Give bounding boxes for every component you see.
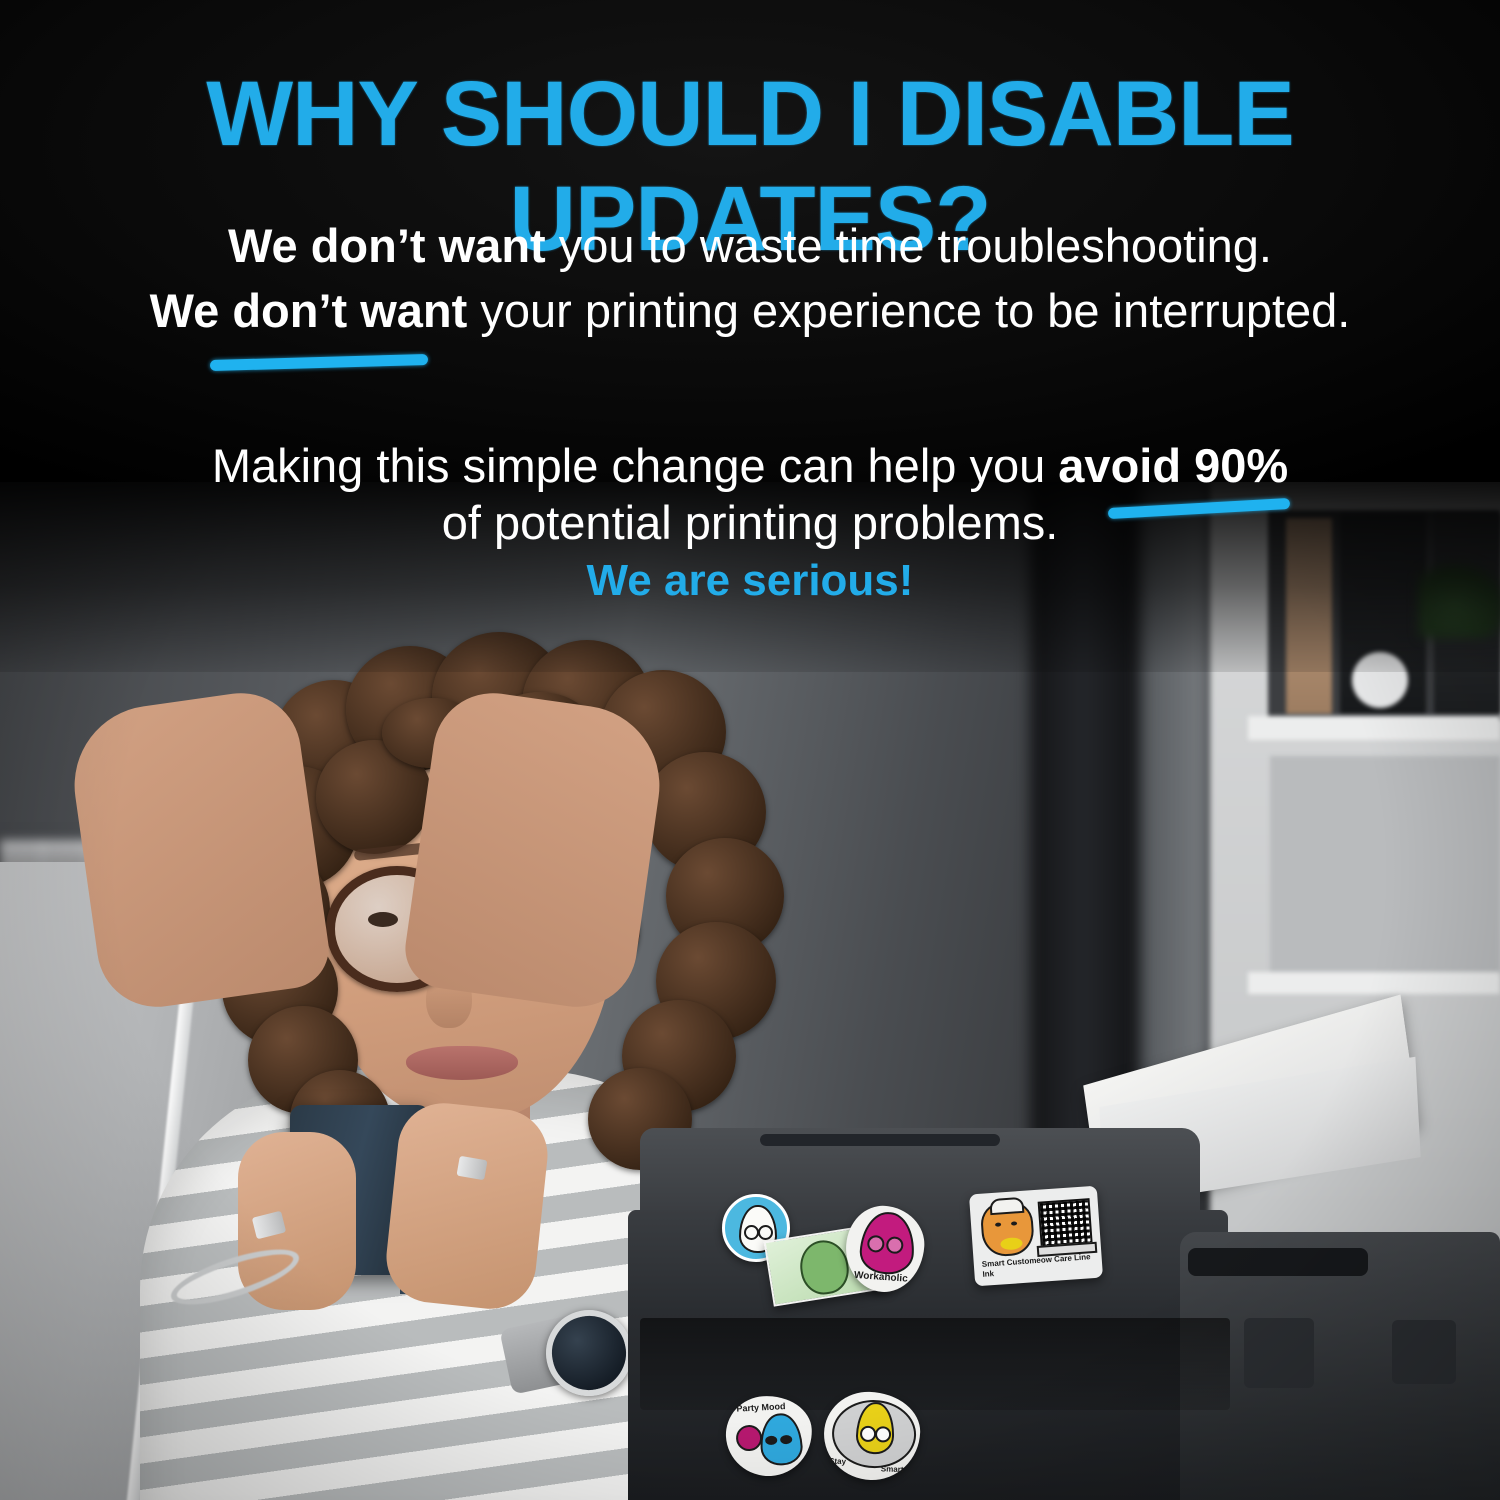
mouth [406, 1046, 518, 1080]
right-forearm [400, 685, 670, 1014]
body-line-1: We don’t want you to waste time troubles… [0, 218, 1500, 273]
printer-lid-handle [760, 1134, 1000, 1146]
printer-tab-left [1244, 1318, 1314, 1388]
hand-right [382, 1099, 552, 1314]
body-line-5-emphasis: We are serious! [0, 556, 1500, 606]
body-line-2: We don’t want your printing experience t… [0, 283, 1500, 338]
body-line-3-rest: Making this simple change can help you [212, 439, 1058, 492]
body-line-1-bold: We don’t want [228, 219, 546, 272]
sticker-workaholic-label: Workaholic [854, 1270, 908, 1285]
shelf-cubby-bottom [1270, 756, 1500, 976]
printer-paper-tray-shadow [640, 1318, 1230, 1410]
body-line-3: Making this simple change can help you a… [0, 438, 1500, 493]
shelf-board-lower [1248, 972, 1500, 994]
sticker-party-mood-label: Party Mood [736, 1401, 785, 1414]
sticker-care-line-sublabel: Ink [982, 1269, 994, 1279]
left-forearm [64, 685, 334, 1014]
body-line-2-rest: your printing experience to be interrupt… [467, 284, 1350, 337]
printer-tab-right [1392, 1320, 1456, 1384]
body-line-2-bold: We don’t want [150, 284, 468, 337]
promotional-banner: 100 Workaholic Smart Customeow Care Line… [0, 0, 1500, 1500]
sticker-customeow-care-line: Smart Customeow Care Line Ink [969, 1186, 1103, 1287]
body-line-3-bold: avoid 90% [1058, 439, 1288, 492]
sticker-stay-smart-label: Stay [829, 1457, 846, 1467]
printer-output-slot [1188, 1248, 1368, 1276]
sticker-stay-smart-label2: Smart [881, 1464, 904, 1474]
body-line-1-rest: you to waste time troubleshooting. [546, 219, 1272, 272]
shelf-board-middle [1248, 716, 1500, 740]
